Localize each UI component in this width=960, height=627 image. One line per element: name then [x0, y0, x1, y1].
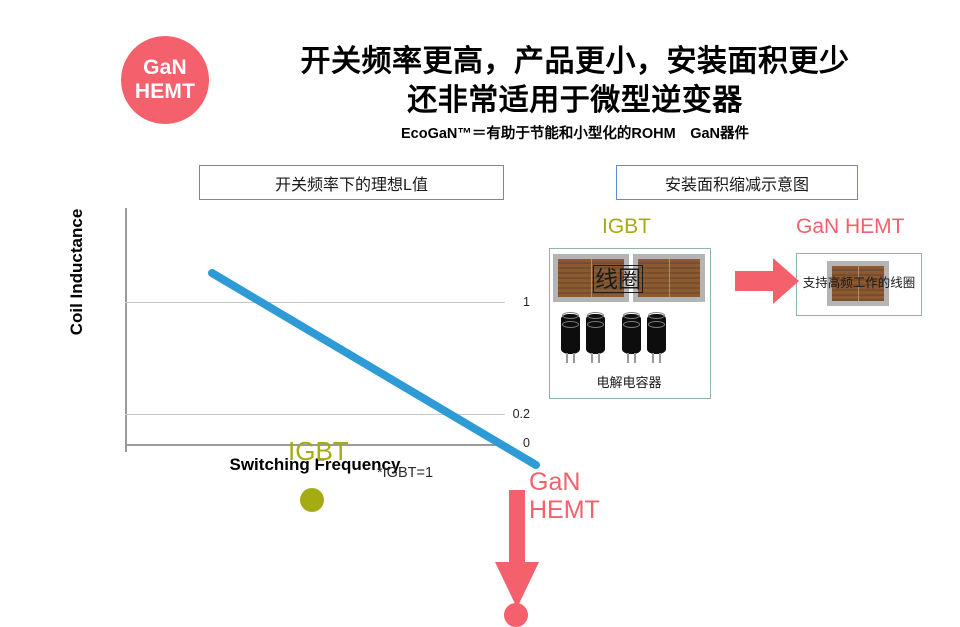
capacitor-lead-right — [573, 353, 575, 363]
title-line-1: 开关频率更高，产品更小，安装面积更少 — [230, 42, 920, 81]
capacitor-mid-ring — [587, 321, 604, 328]
diagram-title-gan-hemt: GaN HEMT — [796, 215, 905, 239]
page-title: 开关频率更高，产品更小，安装面积更少 还非常适用于微型逆变器 — [230, 42, 920, 120]
chart-note-igbt-reference: *IGBT=1 — [377, 465, 433, 481]
capacitor-mid-ring — [562, 321, 579, 328]
capacitor-body — [647, 314, 666, 354]
gan-coil-label: 支持高频工作的线圈 — [800, 272, 918, 291]
right-arrow-icon — [735, 258, 799, 304]
right-panel-heading-text: 安装面积缩减示意图 — [665, 171, 809, 195]
capacitor-body — [622, 314, 641, 354]
igbt-coil-right — [633, 254, 705, 302]
left-panel-heading-text: 开关频率下的理想L值 — [275, 171, 428, 195]
title-line-2: 还非常适用于微型逆变器 — [230, 81, 920, 120]
capacitor-lead-left — [591, 353, 593, 363]
capacitor-icon — [647, 310, 666, 362]
capacitor-icon — [586, 310, 605, 362]
capacitor-icon — [622, 310, 641, 362]
inductance-chart: 1 0.2 0 Coil Inductance Switching Freque… — [60, 200, 530, 490]
page-subtitle: EcoGaN™＝有助于节能和小型化的ROHM GaN器件 — [230, 122, 920, 143]
capacitor-mid-ring — [648, 321, 665, 328]
capacitor-top-ring — [587, 312, 604, 319]
capacitor-lead-right — [659, 353, 661, 363]
chart-label-hemt: HEMT — [529, 496, 619, 524]
capacitor-mid-ring — [623, 321, 640, 328]
electrolytic-capacitor-group — [561, 310, 701, 370]
igbt-coil-label: 线圈 — [593, 265, 643, 293]
chart-label-gan: GaN — [529, 468, 619, 496]
gan-hemt-badge: GaN HEMT — [121, 36, 209, 124]
coil-winding — [638, 259, 700, 297]
capacitor-lead-left — [652, 353, 654, 363]
down-arrow-icon — [494, 490, 540, 612]
capacitor-lead-left — [566, 353, 568, 363]
badge-line1: GaN — [143, 56, 187, 80]
badge-line2: HEMT — [135, 80, 195, 104]
capacitor-icon — [561, 310, 580, 362]
capacitor-body — [561, 314, 580, 354]
chart-label-igbt: IGBT — [288, 436, 349, 467]
slide-canvas: GaN HEMT 开关频率更高，产品更小，安装面积更少 还非常适用于微型逆变器 … — [0, 0, 960, 540]
capacitor-group-label: 电解电容器 — [551, 372, 707, 391]
left-panel-heading: 开关频率下的理想L值 — [199, 165, 504, 200]
capacitor-top-ring — [623, 312, 640, 319]
capacitor-lead-left — [627, 353, 629, 363]
diagram-title-igbt: IGBT — [602, 215, 651, 239]
capacitor-body — [586, 314, 605, 354]
data-point-igbt — [300, 488, 324, 512]
capacitor-top-ring — [562, 312, 579, 319]
capacitor-top-ring — [648, 312, 665, 319]
chart-label-gan-hemt: GaN HEMT — [529, 468, 619, 524]
capacitor-lead-right — [634, 353, 636, 363]
capacitor-lead-right — [598, 353, 600, 363]
right-panel-heading: 安装面积缩减示意图 — [616, 165, 858, 200]
